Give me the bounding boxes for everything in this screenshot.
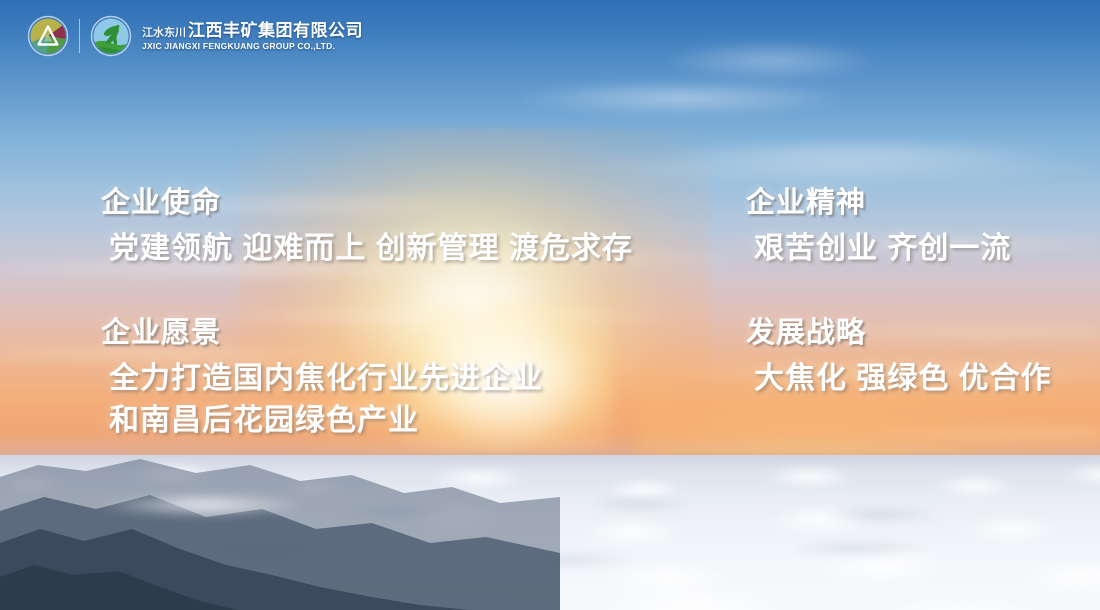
- culture-heading-spirit: 企业精神: [746, 188, 1011, 220]
- fengkuang-crane-circular-mark-icon: [89, 14, 133, 58]
- culture-line-spirit-1: 艰苦创业 齐创一流: [754, 228, 1011, 271]
- culture-body-strategy: 大焦化 强绿色 优合作: [746, 358, 1052, 401]
- culture-block-vision: 企业愿景 全力打造国内焦化行业先进企业 和南昌后花园绿色产业: [101, 318, 543, 443]
- culture-line-vision-1: 全力打造国内焦化行业先进企业: [109, 358, 543, 401]
- culture-block-spirit: 企业精神 艰苦创业 齐创一流: [746, 188, 1011, 270]
- culture-text-group: 企业使命 党建领航 迎难而上 创新管理 渡危求存 企业精神 艰苦创业 齐创一流 …: [0, 0, 1100, 610]
- jiangxi-group-circular-mark-icon: [26, 14, 70, 58]
- culture-block-strategy: 发展战略 大焦化 强绿色 优合作: [746, 318, 1052, 400]
- logo-name-prefix: 江水东川: [142, 27, 186, 39]
- culture-body-vision: 全力打造国内焦化行业先进企业 和南昌后花园绿色产业: [101, 358, 543, 443]
- culture-line-vision-2: 和南昌后花园绿色产业: [109, 400, 543, 443]
- logo-name-main: 江西丰矿集团有限公司: [188, 21, 363, 40]
- logo-wordmark: 江水东川江西丰矿集团有限公司 JXIC JIANGXI FENGKUANG GR…: [142, 22, 363, 51]
- company-logo-lockup[interactable]: 江水东川江西丰矿集团有限公司 JXIC JIANGXI FENGKUANG GR…: [26, 14, 363, 58]
- culture-heading-mission: 企业使命: [101, 188, 633, 220]
- culture-line-mission-1: 党建领航 迎难而上 创新管理 渡危求存: [109, 228, 633, 271]
- culture-heading-vision: 企业愿景: [101, 318, 543, 350]
- culture-slide: 江水东川江西丰矿集团有限公司 JXIC JIANGXI FENGKUANG GR…: [0, 0, 1100, 610]
- culture-body-spirit: 艰苦创业 齐创一流: [746, 228, 1011, 271]
- logo-company-name-en: JXIC JIANGXI FENGKUANG GROUP CO.,LTD.: [142, 42, 363, 51]
- culture-body-mission: 党建领航 迎难而上 创新管理 渡危求存: [101, 228, 633, 271]
- culture-line-strategy-1: 大焦化 强绿色 优合作: [754, 358, 1052, 401]
- culture-block-mission: 企业使命 党建领航 迎难而上 创新管理 渡危求存: [101, 188, 633, 270]
- logo-company-name-cn: 江水东川江西丰矿集团有限公司: [142, 22, 363, 39]
- culture-heading-strategy: 发展战略: [746, 318, 1052, 350]
- logo-divider: [79, 19, 80, 53]
